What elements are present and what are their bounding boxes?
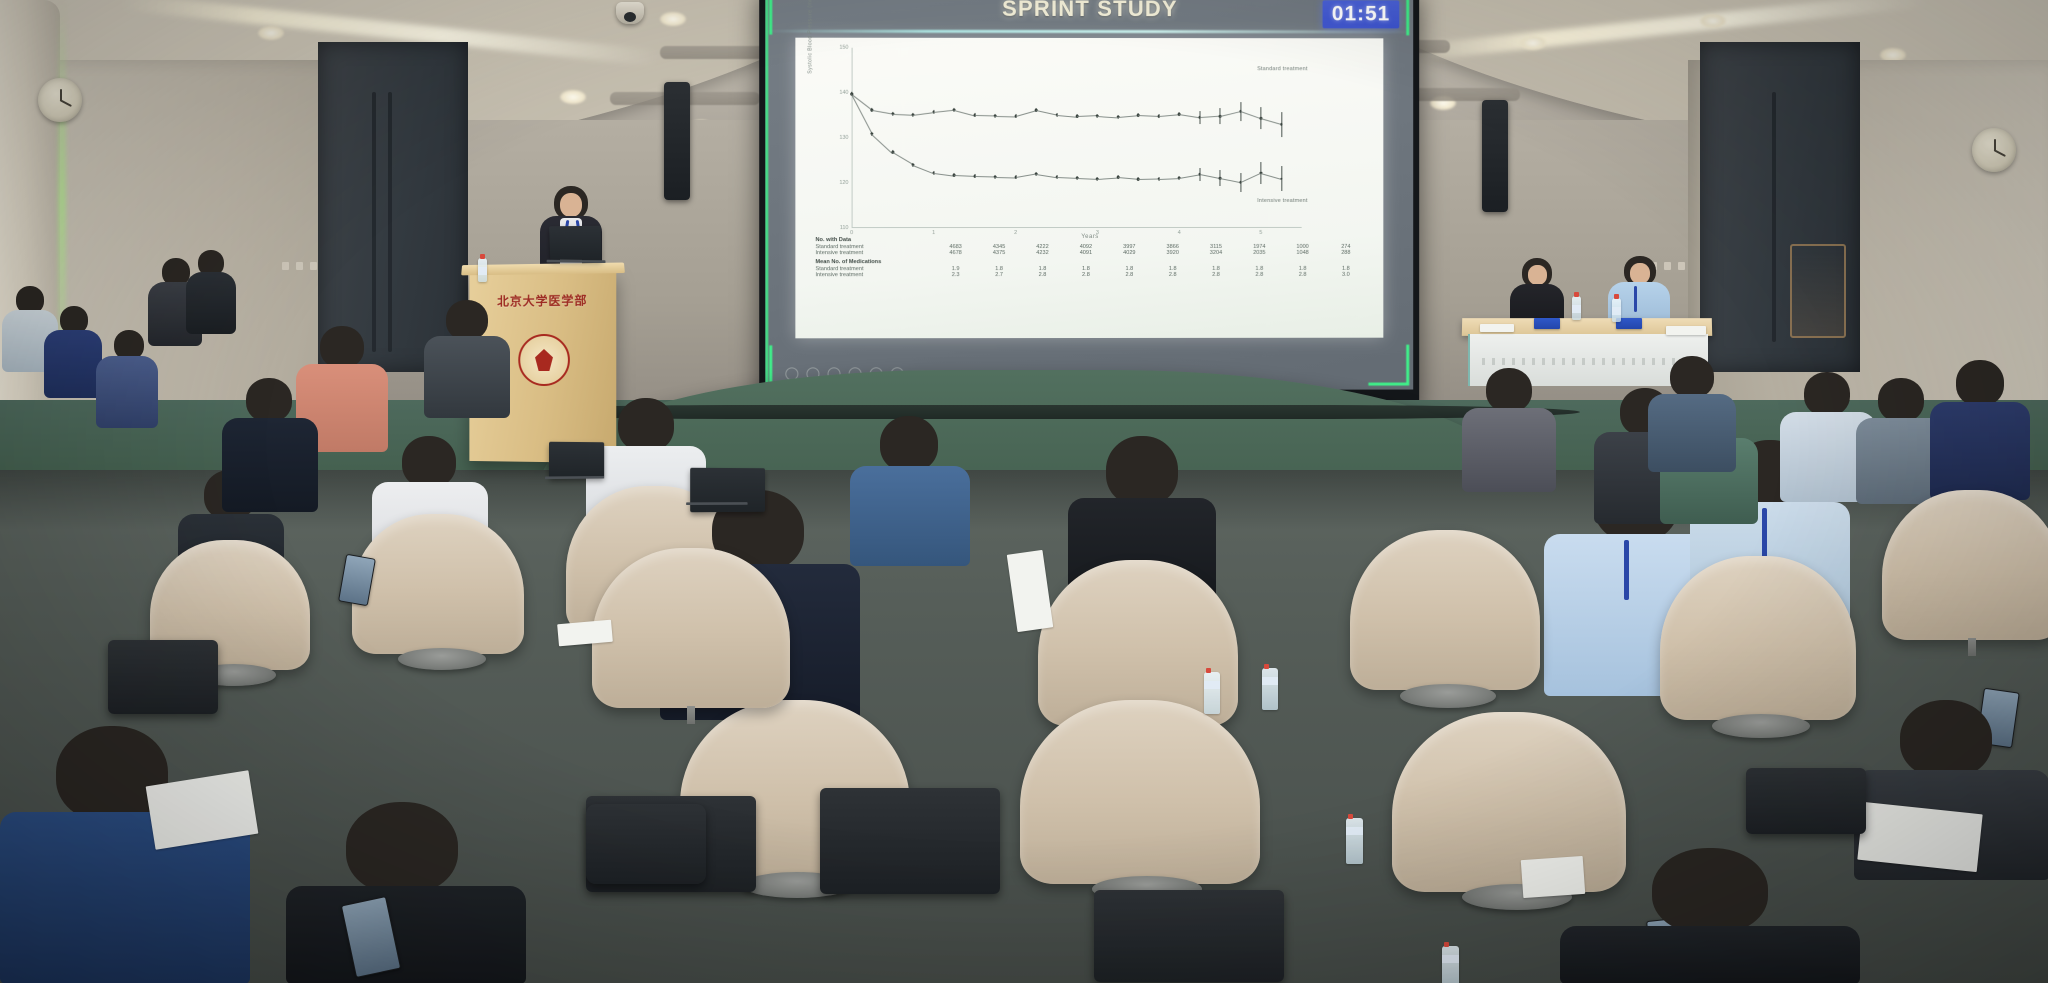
bag	[1094, 890, 1284, 982]
table-cell: 1.8	[1238, 265, 1281, 271]
table-cell: 4345	[977, 244, 1020, 250]
attendee-hair	[1670, 356, 1714, 398]
annotation-standard: Standard treatment	[1257, 66, 1308, 72]
chart-x-axis	[852, 227, 1302, 228]
chart-line-segment	[1016, 110, 1037, 116]
chart-line-segment	[1200, 174, 1221, 179]
table-cell: 288	[1324, 250, 1367, 256]
attendee-hair	[446, 300, 488, 340]
handout-paper[interactable]	[1521, 856, 1585, 898]
chart-line-segment	[913, 112, 934, 115]
attendee	[1930, 360, 2030, 500]
chart-line-segment	[975, 176, 995, 177]
chart-line-segment	[1118, 177, 1138, 179]
chart-line-segment	[1077, 178, 1097, 179]
attendee-shirt	[424, 336, 510, 418]
chart-line-segment	[872, 110, 893, 114]
chart-line-segment	[893, 114, 914, 116]
handout-paper[interactable]	[1857, 802, 1982, 872]
slide-title: SPRINT STUDY	[765, 0, 1413, 22]
table-cell: 1.8	[1194, 265, 1237, 271]
attendee-hair	[618, 398, 674, 452]
table-cell: 3204	[1194, 250, 1237, 256]
chair[interactable]	[352, 514, 524, 654]
downlight	[560, 90, 586, 104]
attendee-foreground	[1560, 848, 1860, 983]
door-handle-strip-left-2	[388, 92, 392, 352]
table-cell: 3920	[1151, 250, 1194, 256]
chart-line-segment	[1138, 115, 1158, 117]
chart-line-segment	[975, 115, 995, 116]
bag-right	[1746, 768, 1866, 834]
table-cell: 3115	[1194, 243, 1237, 249]
sbp-line-chart: Systolic Blood Pressure (mm Hg) 11012013…	[852, 48, 1302, 228]
chart-line-segment	[954, 110, 975, 116]
attendee-shirt	[44, 330, 102, 398]
attendee-hair	[1106, 436, 1178, 506]
attendee-shirt	[1462, 408, 1556, 492]
chair[interactable]	[1020, 700, 1260, 884]
table-cell: 4232	[1021, 250, 1064, 256]
table-cell: 1.8	[1021, 266, 1064, 272]
water-bottle-floor	[1204, 672, 1220, 714]
wall-clock-left	[38, 78, 82, 122]
chair-base	[398, 648, 486, 670]
table-cell: 3.0	[1324, 272, 1367, 278]
chair[interactable]	[592, 548, 790, 708]
attendee-hair	[1956, 360, 2004, 406]
attendee	[1648, 356, 1736, 472]
attendee-hair	[1804, 372, 1850, 416]
water-bottle-podium	[478, 258, 487, 282]
attendee-foreground	[0, 726, 250, 983]
row-values: 1.91.81.81.81.81.81.81.81.81.8	[934, 265, 1368, 271]
presenter-frame-edge	[765, 0, 768, 390]
water-bottle-floor-2	[1262, 668, 1278, 710]
chart-line-segment	[892, 152, 913, 165]
row-label: Standard treatment	[815, 244, 933, 250]
chart-line-segment	[1036, 110, 1057, 115]
table-cell: 2.8	[1108, 272, 1151, 278]
water-bottle-head-table-2	[1612, 298, 1621, 322]
chart-y-axis	[852, 48, 853, 228]
table-cell: 3997	[1108, 243, 1151, 249]
table-section-title-1: No. with Data	[815, 237, 1367, 243]
handbag	[820, 788, 1000, 894]
table-row: Standard treatment 468343454222409239973…	[815, 243, 1367, 249]
projected-slide: SPRINT STUDY 01:51 Systolic Blood Pressu…	[765, 0, 1413, 390]
countdown-timer: 01:51	[1323, 0, 1399, 28]
chart-line-segment	[1261, 173, 1282, 179]
wall-outlet	[282, 262, 289, 270]
chart-line-segment	[1077, 115, 1097, 116]
table-cell: 274	[1324, 243, 1367, 249]
chart-line-segment	[1159, 114, 1179, 116]
chart-line-segment	[1138, 178, 1158, 179]
annotation-intensive: Intensive treatment	[1257, 198, 1307, 204]
attendee-shirt	[850, 466, 970, 566]
y-tick-label: 120	[839, 180, 848, 186]
chart-line-segment	[995, 177, 1015, 178]
wall-outlet	[296, 262, 303, 270]
y-tick-label: 140	[839, 90, 848, 96]
table-cell: 1.8	[1151, 265, 1194, 271]
table-cell: 2.3	[934, 272, 977, 278]
table-cell: 1048	[1281, 250, 1324, 256]
water-bottle-head-table	[1572, 296, 1581, 320]
downlight	[258, 26, 284, 40]
table-cell: 1.9	[934, 266, 977, 272]
table-row: Intensive treatment 2.32.72.82.82.82.82.…	[815, 272, 1367, 278]
slide-title-rule	[765, 30, 1413, 34]
table-cell: 4092	[1064, 243, 1107, 249]
frame-marker-bottom-right	[1368, 345, 1409, 386]
chart-line-segment	[995, 115, 1015, 116]
university-emblem-icon	[518, 334, 570, 386]
table-cell: 4375	[977, 250, 1020, 256]
row-values: 467843754232409140293920320420351048288	[934, 250, 1368, 256]
row-values: 2.32.72.82.82.82.82.82.82.83.0	[934, 272, 1368, 278]
wall-clock-right	[1972, 128, 2016, 172]
chart-y-axis-label: Systolic Blood Pressure (mm Hg)	[807, 0, 813, 74]
slide-data-table: No. with Data Standard treatment 4683434…	[815, 234, 1367, 278]
row-label: Standard treatment	[815, 266, 933, 272]
cctv-camera-icon	[616, 2, 644, 24]
attendee-shirt	[96, 356, 158, 428]
attendee-hair	[1878, 378, 1924, 422]
table-cell: 2.8	[1281, 272, 1324, 278]
chart-line-segment	[1200, 116, 1220, 118]
chart-line-segment	[1097, 177, 1117, 179]
attendee	[850, 416, 970, 566]
chair-base	[1400, 684, 1496, 708]
wall-outlet	[310, 262, 317, 270]
chart-line-segment	[1220, 178, 1241, 183]
attendee-standing	[186, 250, 236, 338]
attendee-hair	[402, 436, 456, 488]
chart-line-segment	[934, 110, 955, 113]
table-cell: 2.8	[1064, 272, 1107, 278]
slide-content-area: Systolic Blood Pressure (mm Hg) 11012013…	[795, 38, 1383, 339]
name-card-text	[1534, 318, 1560, 329]
podium-laptop[interactable]	[549, 226, 601, 260]
chart-line-segment	[954, 175, 975, 176]
wall-outlet	[1678, 262, 1685, 270]
attendee-hair	[1652, 848, 1768, 934]
chart-line-segment	[1220, 111, 1241, 117]
chart-data-point-intensive	[1280, 177, 1283, 180]
chart-line-segment	[1016, 174, 1037, 178]
table-row: Standard treatment 1.91.81.81.81.81.81.8…	[815, 265, 1367, 271]
chart-line-segment	[872, 133, 893, 152]
wall-speaker-right	[1482, 100, 1508, 212]
attendee-laptop-2[interactable]	[690, 468, 765, 512]
y-tick-label: 130	[839, 135, 848, 141]
chart-line-segment	[1118, 115, 1138, 117]
water-bottle-floor-3	[1346, 818, 1363, 864]
attendee-shirt	[1930, 402, 2030, 500]
coat-rack	[1790, 244, 1846, 338]
lanyard	[1762, 508, 1767, 562]
table-cell: 1.8	[977, 266, 1020, 272]
door-handle-strip-left	[372, 92, 376, 352]
attendee-shirt	[1648, 394, 1736, 472]
attendee-hair	[246, 378, 292, 422]
downlight	[660, 12, 686, 26]
attendee	[424, 300, 510, 418]
attendee	[222, 378, 318, 512]
attendee-shirt	[222, 418, 318, 512]
table-cell: 1.8	[1324, 265, 1367, 271]
row-label: Intensive treatment	[815, 250, 933, 256]
table-cell: 1.8	[1281, 265, 1324, 271]
attendee-foreground	[286, 802, 526, 983]
table-cell: 1974	[1238, 243, 1281, 249]
table-cell: 2.8	[1238, 272, 1281, 278]
chart-data-point-standard	[1280, 123, 1283, 126]
chart-line-segment	[913, 165, 934, 174]
bag-left	[108, 640, 218, 714]
chair[interactable]	[1660, 556, 1856, 720]
panelist-right-lanyard	[1634, 286, 1637, 312]
attendee-shirt	[186, 272, 236, 334]
chart-line-segment	[851, 94, 872, 133]
door-handle-strip-right	[1772, 92, 1776, 342]
attendee-hair	[346, 802, 458, 894]
table-cell: 1000	[1281, 243, 1324, 249]
handout-paper[interactable]	[557, 620, 613, 647]
downlight	[1700, 14, 1726, 28]
chair-base	[1712, 714, 1810, 738]
presenter-face	[560, 193, 582, 217]
attendee	[1462, 368, 1556, 492]
chart-line-segment	[1240, 173, 1261, 183]
y-tick-label: 110	[840, 225, 849, 231]
table-cell: 4091	[1064, 250, 1107, 256]
table-cell: 2035	[1238, 250, 1281, 256]
panelist-right-face	[1630, 263, 1650, 284]
bag-secondary	[586, 804, 706, 884]
chart-line-segment	[1097, 116, 1117, 118]
table-cell: 1.8	[1064, 265, 1107, 271]
table-cell: 2.7	[977, 272, 1020, 278]
head-table-name-card-left	[1534, 318, 1560, 329]
row-values: 468343454222409239973866311519741000274	[934, 243, 1368, 249]
table-cell: 2.8	[1194, 272, 1237, 278]
table-row: Intensive treatment 46784375423240914029…	[815, 250, 1367, 256]
chart-line-segment	[1179, 174, 1200, 178]
wall-speaker-left	[664, 82, 690, 200]
attendee-laptop[interactable]	[549, 442, 604, 479]
chart-line-segment	[934, 173, 955, 176]
attendee	[44, 306, 102, 404]
table-cell: 2.8	[1021, 272, 1064, 278]
attendee-hair	[1486, 368, 1532, 412]
document-on-table-2	[1666, 326, 1706, 335]
table-cell: 4678	[934, 250, 977, 256]
chart-line-segment	[1159, 178, 1179, 179]
projection-screen[interactable]: SPRINT STUDY 01:51 Systolic Blood Pressu…	[759, 0, 1419, 405]
attendee-shirt	[286, 886, 526, 983]
row-label: Intensive treatment	[815, 272, 933, 278]
chart-line-segment	[1056, 115, 1077, 117]
table-section-title-2: Mean No. of Medications	[815, 259, 1367, 265]
attendee-hair	[320, 326, 364, 368]
table-cell: 4683	[934, 244, 977, 250]
y-tick-label: 150	[839, 45, 848, 51]
downlight	[1520, 36, 1546, 50]
table-cell: 4029	[1108, 250, 1151, 256]
chart-line-segment	[851, 94, 872, 110]
table-cell: 3866	[1151, 243, 1194, 249]
chair[interactable]	[1350, 530, 1540, 690]
panelist-left-face	[1528, 265, 1547, 285]
conference-hall-photo: SPRINT STUDY 01:51 Systolic Blood Pressu…	[0, 0, 2048, 983]
attendee-hair	[880, 416, 938, 472]
table-cell: 1.8	[1108, 265, 1151, 271]
document-on-table	[1480, 324, 1514, 332]
chart-line-segment	[1240, 111, 1261, 119]
lanyard	[1624, 540, 1629, 600]
attendee-shirt	[1560, 926, 1860, 983]
table-cell: 4222	[1021, 244, 1064, 250]
water-bottle-floor-4	[1442, 946, 1459, 983]
chart-line-segment	[1261, 118, 1282, 124]
chart-line-segment	[1057, 177, 1077, 178]
chart-line-segment	[1179, 114, 1200, 118]
chart-line-segment	[1036, 174, 1057, 178]
table-cell: 2.8	[1151, 272, 1194, 278]
attendee-hair	[1900, 700, 1992, 778]
